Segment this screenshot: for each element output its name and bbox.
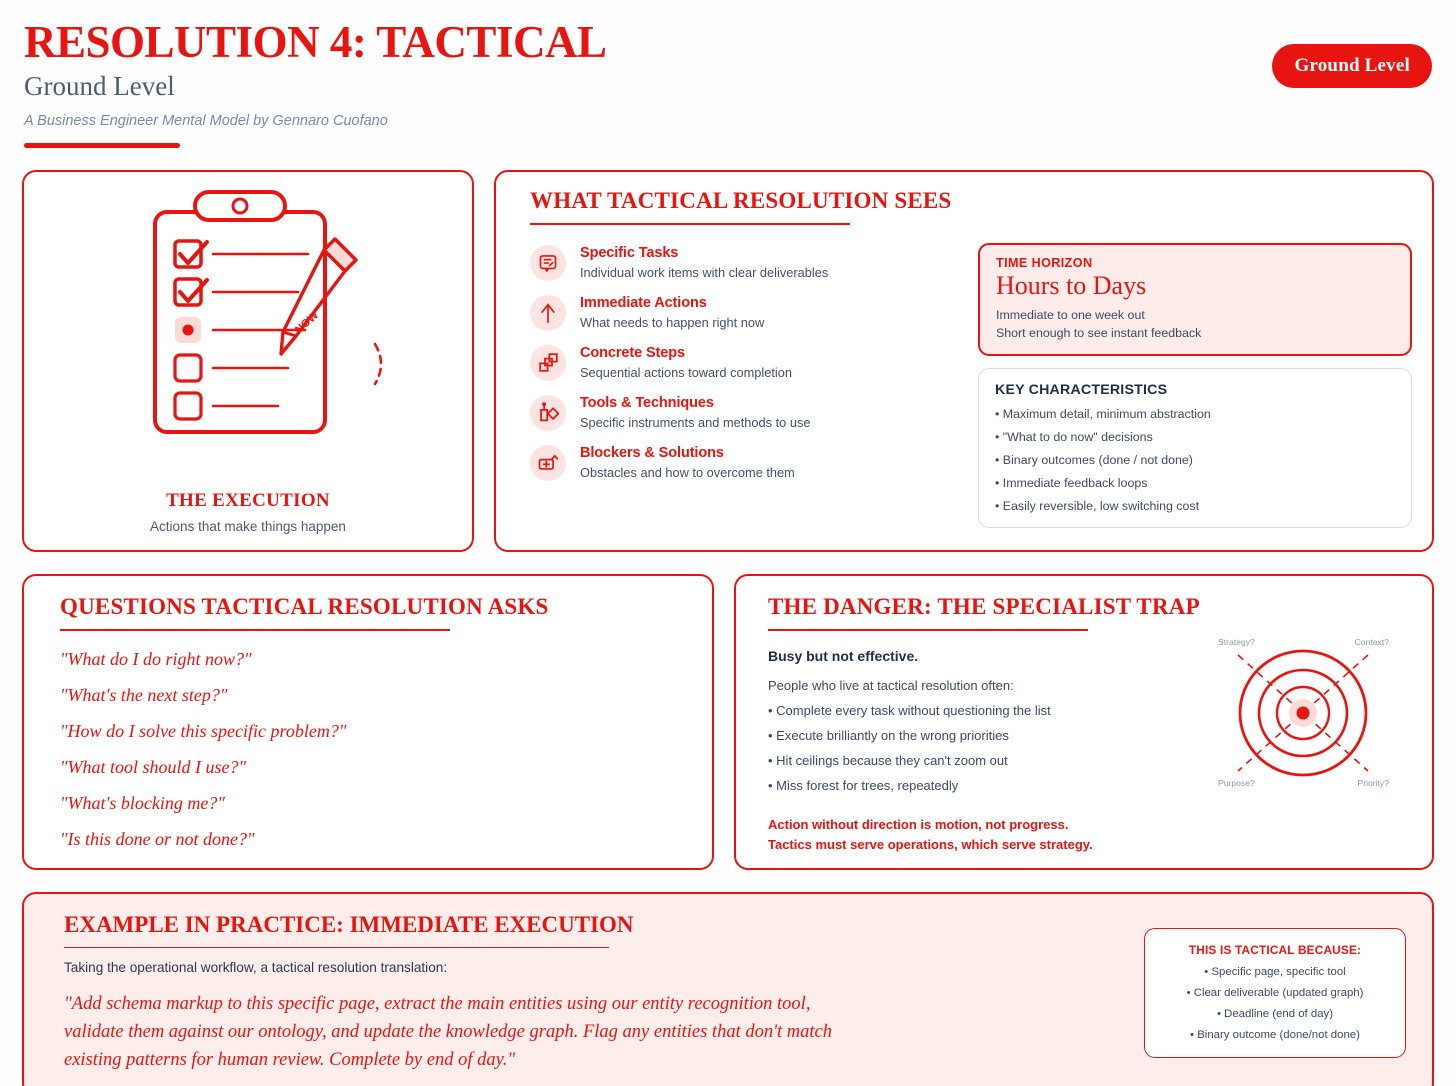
time-horizon-note-1: Immediate to one week out [996,308,1394,322]
illustration-subcaption: Actions that make things happen [150,519,346,534]
key-characteristics-box: KEY CHARACTERISTICS • Maximum detail, mi… [978,368,1412,528]
radar-label-priority: Priority? [1357,778,1389,788]
accent-bar [24,143,180,148]
row-top: NOW THE EXECUTION Actions that make thin… [0,170,1456,552]
note-edit-icon [530,245,566,281]
key-characteristic-item: • Immediate feedback loops [995,476,1395,490]
danger-bullet: • Hit ceilings because they can't zoom o… [768,753,1208,768]
example-title: EXAMPLE IN PRACTICE: IMMEDIATE EXECUTION [64,912,1126,938]
see-item-desc: What needs to happen right now [580,315,764,330]
see-item: Specific Tasks Individual work items wit… [530,243,960,281]
key-characteristic-item: • Easily reversible, low switching cost [995,499,1395,513]
see-item-title: Immediate Actions [580,295,707,311]
sees-list: Specific Tasks Individual work items wit… [530,243,960,528]
question-item: "How do I solve this specific problem?" [60,721,682,742]
questions-panel: QUESTIONS TACTICAL RESOLUTION ASKS "What… [22,574,714,870]
see-item-title: Concrete Steps [580,345,685,361]
time-horizon-label: TIME HORIZON [996,256,1394,270]
example-rule [64,947,609,949]
see-item-title: Specific Tasks [580,245,678,261]
example-intro: Taking the operational workflow, a tacti… [64,960,1126,975]
time-horizon-note-2: Short enough to see instant feedback [996,326,1394,340]
why-tactical-item: • Deadline (end of day) [1157,1008,1393,1020]
page-title: RESOLUTION 4: TACTICAL [24,18,1432,68]
sees-title: WHAT TACTICAL RESOLUTION SEES [530,188,1412,214]
see-item-title: Blockers & Solutions [580,445,724,461]
level-badge: Ground Level [1272,44,1432,88]
clipboard-illustration: NOW [83,184,413,484]
radar-target-graphic [1216,635,1391,790]
why-tactical-title: THIS IS TACTICAL BECAUSE: [1157,943,1393,957]
example-quote: "Add schema markup to this specific page… [64,991,854,1074]
question-item: "Is this done or not done?" [60,829,682,850]
radar-label-context: Context? [1355,637,1389,647]
execution-illustration-panel: NOW THE EXECUTION Actions that make thin… [22,170,474,552]
pencil-now-label: NOW [293,309,321,336]
danger-warning: Tactics must serve operations, which ser… [768,837,1208,852]
danger-panel: THE DANGER: THE SPECIALIST TRAP Busy but… [734,574,1434,870]
question-item: "What tool should I use?" [60,757,682,778]
danger-title: THE DANGER: THE SPECIALIST TRAP [768,594,1410,620]
danger-bullet: • Complete every task without questionin… [768,703,1208,718]
key-characteristic-item: • "What to do now" decisions [995,430,1395,444]
question-item: "What's blocking me?" [60,793,682,814]
danger-lead: Busy but not effective. [768,648,1208,664]
key-characteristic-item: • Binary outcomes (done / not done) [995,453,1395,467]
why-tactical-item: • Binary outcome (done/not done) [1157,1029,1393,1041]
illustration-caption: THE EXECUTION [166,490,330,512]
see-item: Blockers & Solutions Obstacles and how t… [530,443,960,481]
row-middle: QUESTIONS TACTICAL RESOLUTION ASKS "What… [0,574,1456,870]
radar-label-strategy: Strategy? [1218,637,1255,647]
infographic-page: RESOLUTION 4: TACTICAL Ground Level A Bu… [0,0,1456,1086]
row-bottom: EXAMPLE IN PRACTICE: IMMEDIATE EXECUTION… [0,892,1456,1086]
example-panel: EXAMPLE IN PRACTICE: IMMEDIATE EXECUTION… [22,892,1434,1086]
why-tactical-box: THIS IS TACTICAL BECAUSE: • Specific pag… [1144,928,1406,1058]
see-item-desc: Obstacles and how to overcome them [580,465,795,480]
what-tactical-sees-panel: WHAT TACTICAL RESOLUTION SEES [494,170,1434,552]
byline: A Business Engineer Mental Model by Genn… [24,113,1432,129]
danger-bullet: • Execute brilliantly on the wrong prior… [768,728,1208,743]
see-item: Tools & Techniques Specific instruments … [530,393,960,431]
see-item-desc: Individual work items with clear deliver… [580,265,828,280]
danger-bullet: • Miss forest for trees, repeatedly [768,778,1208,793]
why-tactical-item: • Clear deliverable (updated graph) [1157,987,1393,999]
blocker-plus-icon [530,445,566,481]
question-item: "What's the next step?" [60,685,682,706]
question-item: "What do I do right now?" [60,649,682,670]
page-subtitle: Ground Level [24,72,1432,102]
specialist-trap-radar: Strategy? Context? Purpose? Priority? [1216,635,1391,790]
time-horizon-value: Hours to Days [996,271,1394,301]
key-characteristic-item: • Maximum detail, minimum abstraction [995,407,1395,421]
questions-rule [60,629,450,631]
danger-subtext: People who live at tactical resolution o… [768,678,1208,693]
why-tactical-item: • Specific page, specific tool [1157,966,1393,978]
see-item-desc: Specific instruments and methods to use [580,415,810,430]
time-horizon-box: TIME HORIZON Hours to Days Immediate to … [978,243,1412,356]
questions-title: QUESTIONS TACTICAL RESOLUTION ASKS [60,594,682,620]
header: RESOLUTION 4: TACTICAL Ground Level A Bu… [0,0,1456,148]
danger-warning: Action without direction is motion, not … [768,817,1208,832]
see-item: Immediate Actions What needs to happen r… [530,293,960,331]
see-item-desc: Sequential actions toward completion [580,365,792,380]
key-characteristics-title: KEY CHARACTERISTICS [995,382,1395,398]
see-item-title: Tools & Techniques [580,395,714,411]
see-item: Concrete Steps Sequential actions toward… [530,343,960,381]
up-arrow-icon [530,295,566,331]
tools-icon [530,395,566,431]
radar-label-purpose: Purpose? [1218,778,1255,788]
steps-blocks-icon [530,345,566,381]
sees-rule [530,223,850,225]
